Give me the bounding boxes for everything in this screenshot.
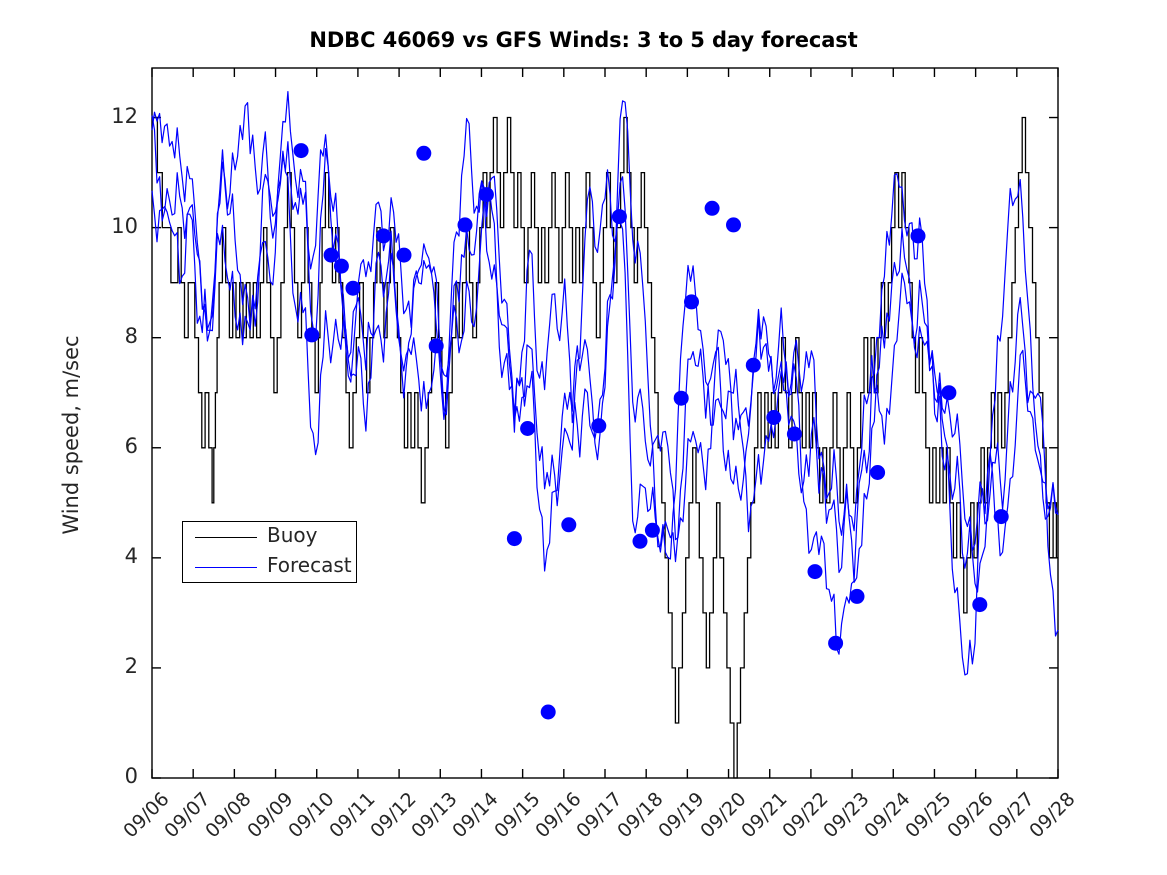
forecast-marker <box>416 146 431 161</box>
y-tick-label: 6 <box>72 434 138 458</box>
legend-label-forecast: Forecast <box>267 553 352 577</box>
forecast-marker <box>334 259 349 274</box>
forecast-marker <box>705 201 720 216</box>
forecast-marker <box>645 523 660 538</box>
forecast-marker <box>507 531 522 546</box>
legend-line-forecast <box>195 567 257 568</box>
y-tick-label: 12 <box>72 104 138 128</box>
buoy-series <box>152 118 1058 779</box>
forecast-marker <box>479 187 494 202</box>
forecast-marker <box>746 358 761 373</box>
forecast-marker <box>397 248 412 263</box>
y-tick-label: 8 <box>72 324 138 348</box>
forecast-marker <box>674 391 689 406</box>
y-tick-label: 2 <box>72 654 138 678</box>
chart-figure: NDBC 46069 vs GFS Winds: 3 to 5 day fore… <box>0 0 1167 875</box>
forecast-marker <box>828 636 843 651</box>
forecast-marker <box>684 294 699 309</box>
chart-legend: Buoy Forecast <box>182 521 357 583</box>
forecast-marker <box>787 427 802 442</box>
legend-label-buoy: Buoy <box>267 523 317 547</box>
forecast-marker <box>561 517 576 532</box>
forecast-marker <box>994 509 1009 524</box>
forecast-marker <box>429 338 444 353</box>
forecast-marker <box>294 143 309 158</box>
forecast-marker <box>324 248 339 263</box>
forecast-marker <box>850 589 865 604</box>
forecast-marker <box>376 228 391 243</box>
forecast-marker <box>726 217 741 232</box>
plot-area <box>0 0 1167 875</box>
forecast-marker <box>941 385 956 400</box>
legend-item-buoy: Buoy <box>183 522 356 553</box>
y-tick-label: 4 <box>72 544 138 568</box>
y-tick-label: 10 <box>72 214 138 238</box>
legend-line-buoy <box>195 537 257 538</box>
forecast-marker <box>346 281 361 296</box>
forecast-marker <box>520 421 535 436</box>
forecast-marker <box>304 327 319 342</box>
forecast-marker <box>972 597 987 612</box>
forecast-marker <box>766 410 781 425</box>
legend-item-forecast: Forecast <box>183 552 356 583</box>
forecast-marker <box>870 465 885 480</box>
forecast-marker <box>541 705 556 720</box>
forecast-marker <box>911 228 926 243</box>
forecast-marker <box>591 418 606 433</box>
forecast-marker <box>633 534 648 549</box>
y-tick-label: 0 <box>72 764 138 788</box>
forecast-marker <box>458 217 473 232</box>
forecast-marker <box>612 209 627 224</box>
forecast-marker <box>808 564 823 579</box>
